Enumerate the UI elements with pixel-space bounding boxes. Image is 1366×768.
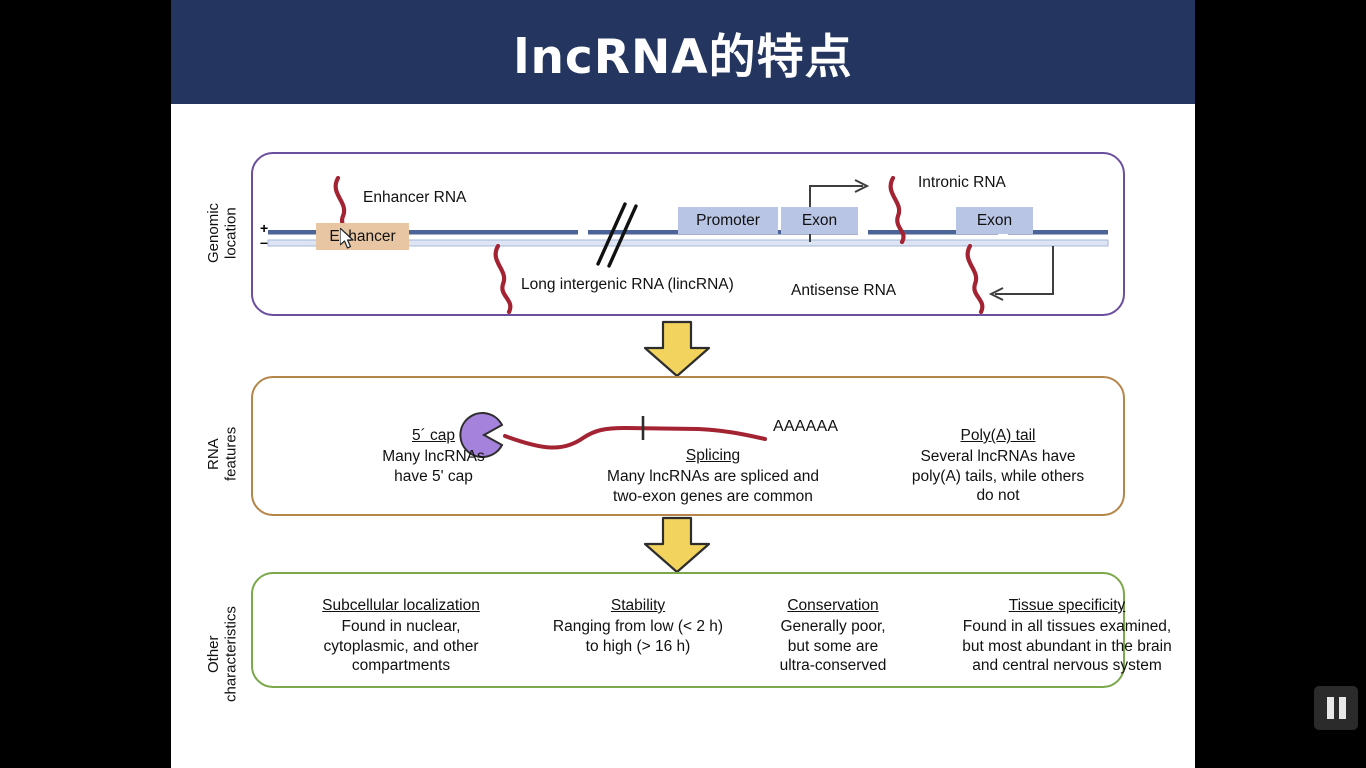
page-title: lncRNA的特点 — [513, 18, 852, 87]
panel-label-other-characteristics: Other characteristics — [205, 584, 239, 724]
enhancer-rna-label: Enhancer RNA — [363, 189, 466, 207]
antisense-rna-label: Antisense RNA — [791, 282, 896, 300]
feature-stability: Stability Ranging from low (< 2 h) to hi… — [533, 596, 743, 656]
panel-other-characteristics: Subcellular localization Found in nuclea… — [251, 572, 1125, 688]
feature-tissue-specificity-body: Found in all tissues examined, but most … — [917, 617, 1217, 676]
feature-tissue-specificity: Tissue specificity Found in all tissues … — [917, 596, 1217, 676]
feature-conservation-body: Generally poor, but some are ultra-conse… — [748, 617, 918, 676]
feature-5-cap-body: Many lncRNAs have 5' cap — [321, 447, 546, 487]
feature-tissue-specificity-heading: Tissue specificity — [917, 596, 1217, 616]
feature-subcellular-localization-body: Found in nuclear, cytoplasmic, and other… — [277, 617, 525, 676]
lincrna-squiggle — [496, 246, 511, 312]
feature-splicing-heading: Splicing — [543, 446, 883, 466]
sequence-break-mark — [598, 204, 636, 266]
feature-stability-heading: Stability — [533, 596, 743, 616]
flow-arrow-2 — [641, 516, 713, 574]
panel-genomic-location: + – Enhancer Promoter Exon Exon Enhancer… — [251, 152, 1125, 316]
feature-subcellular-localization: Subcellular localization Found in nuclea… — [277, 596, 525, 676]
feature-stability-body: Ranging from low (< 2 h) to high (> 16 h… — [533, 617, 743, 657]
lncrna-figure: Genomic location — [171, 104, 1195, 768]
feature-5-cap: 5´ cap Many lncRNAs have 5' cap — [321, 426, 546, 486]
feature-splicing: Splicing Many lncRNAs are spliced and tw… — [543, 446, 883, 506]
exon-box-2: Exon — [956, 207, 1033, 234]
pause-bar-left — [1327, 697, 1334, 719]
mouse-cursor — [340, 228, 358, 252]
feature-poly-a-tail-body: Several lncRNAs have poly(A) tails, whil… — [883, 447, 1113, 506]
feature-splicing-body: Many lncRNAs are spliced and two-exon ge… — [543, 467, 883, 507]
minus-strand-sign: – — [260, 234, 268, 250]
feature-conservation-heading: Conservation — [748, 596, 918, 616]
pause-bar-right — [1339, 697, 1346, 719]
feature-poly-a-tail-heading: Poly(A) tail — [883, 426, 1113, 446]
flow-arrow-1 — [641, 320, 713, 378]
slide-title-bar: lncRNA的特点 — [171, 0, 1195, 104]
feature-subcellular-localization-heading: Subcellular localization — [277, 596, 525, 616]
poly-a-sequence-label: AAAAAA — [773, 418, 838, 436]
panel-rna-features: AAAAAA 5´ cap Many lncRNAs have 5' cap S… — [251, 376, 1125, 516]
promoter-box: Promoter — [678, 207, 778, 234]
antisense-rna-squiggle — [968, 246, 983, 312]
pause-button[interactable] — [1314, 686, 1358, 730]
panel-label-genomic-location: Genomic location — [205, 168, 239, 298]
lincrna-label: Long intergenic RNA (lincRNA) — [521, 276, 734, 294]
feature-poly-a-tail: Poly(A) tail Several lncRNAs have poly(A… — [883, 426, 1113, 506]
feature-conservation: Conservation Generally poor, but some ar… — [748, 596, 918, 676]
panel-label-rna-features: RNA features — [205, 404, 239, 504]
enhancer-box: Enhancer — [316, 223, 409, 250]
exon-box-1: Exon — [781, 207, 858, 234]
feature-5-cap-heading: 5´ cap — [321, 426, 546, 446]
antisense-direction-arrow — [991, 246, 1053, 300]
screen: lncRNA的特点 Genomic location — [0, 0, 1366, 768]
slide-canvas: lncRNA的特点 Genomic location — [171, 0, 1195, 768]
genomic-diagram: + – Enhancer Promoter Exon Exon Enhancer… — [253, 154, 1123, 314]
intronic-rna-label: Intronic RNA — [918, 174, 1006, 192]
